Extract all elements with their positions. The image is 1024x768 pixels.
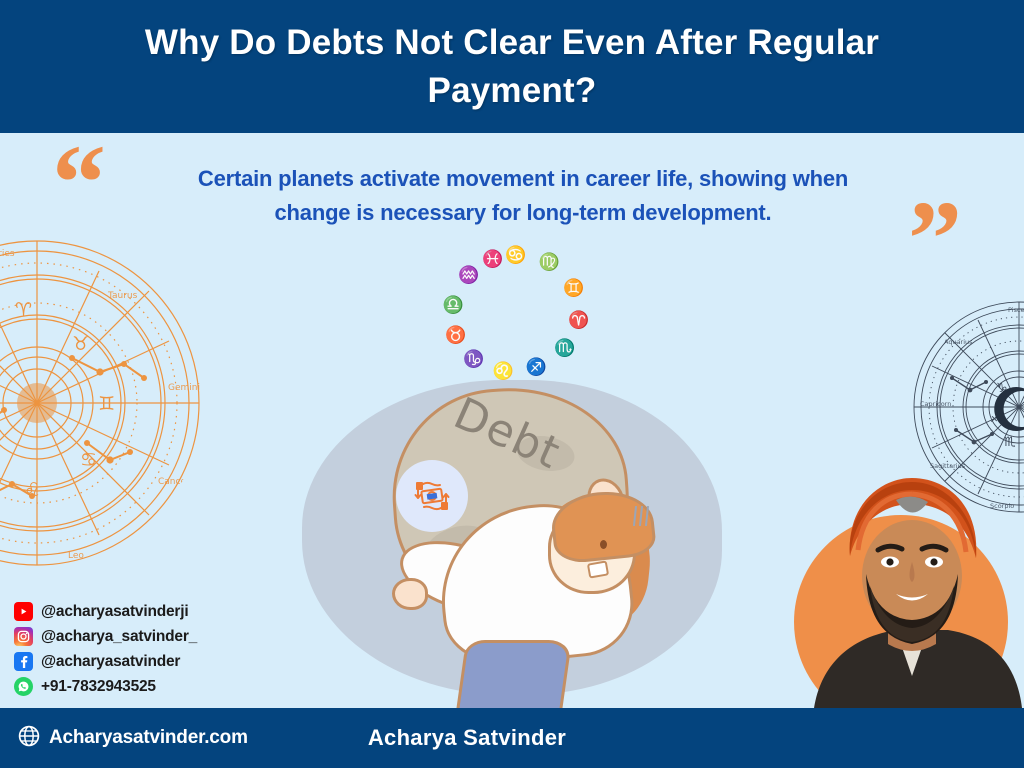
- svg-text:Gemini: Gemini: [168, 383, 200, 393]
- acharya-satvinder-portrait: [800, 470, 1024, 730]
- social-handle: @acharyasatvinderji: [41, 603, 188, 621]
- social-row-youtube[interactable]: @acharyasatvinderji: [14, 600, 274, 623]
- social-row-instagram[interactable]: @acharya_satvinder_: [14, 625, 274, 648]
- zodiac-glyph: ♓: [482, 250, 503, 267]
- header-bar: Why Do Debts Not Clear Even After Regula…: [0, 0, 1024, 133]
- zodiac-glyph: ♈: [568, 311, 589, 328]
- svg-text:♋: ♋: [80, 449, 97, 471]
- social-handle: @acharyasatvinder: [41, 653, 180, 671]
- strain-lines-icon: [634, 506, 650, 528]
- svg-text:♌: ♌: [24, 479, 41, 501]
- svg-text:Leo: Leo: [68, 551, 84, 561]
- zodiac-glyph: ♌: [493, 362, 514, 379]
- zodiac-glyph: ♑: [463, 350, 484, 367]
- social-handle: +91-7832943525: [41, 678, 156, 696]
- youtube-icon[interactable]: [14, 602, 33, 621]
- svg-text:♊: ♊: [98, 393, 115, 415]
- zodiac-glyph: ♒: [458, 267, 479, 284]
- svg-text:Sagittarius: Sagittarius: [930, 462, 966, 470]
- footer-bar: Acharyasatvinder.com Acharya Satvinder: [0, 708, 1024, 768]
- zodiac-glyph-ring: ♋ ♍ ♊ ♈ ♏ ♐ ♌ ♑ ♉ ♎ ♒ ♓: [452, 255, 580, 373]
- instagram-icon[interactable]: [14, 627, 33, 646]
- facebook-icon[interactable]: [14, 652, 33, 671]
- poster-canvas: ♈ ♉ ♊ ♋ ♌ ♍ Aries Taurus Gemini Cancer L…: [0, 0, 1024, 768]
- page-title: Why Do Debts Not Clear Even After Regula…: [90, 19, 934, 114]
- zodiac-glyph: ♐: [526, 359, 547, 376]
- social-handle: @acharya_satvinder_: [41, 628, 197, 646]
- svg-text:Aries: Aries: [0, 249, 15, 259]
- zodiac-glyph: ♉: [445, 327, 466, 344]
- svg-text:Cancer: Cancer: [158, 477, 190, 487]
- money-transfer-icon: [396, 460, 468, 532]
- quote-close-icon: ”: [908, 178, 962, 302]
- social-handles-list: @acharyasatvinderji @acharya_satvinder_ …: [14, 600, 274, 700]
- svg-text:Taurus: Taurus: [107, 291, 138, 301]
- social-row-facebook[interactable]: @acharyasatvinder: [14, 650, 274, 673]
- svg-text:♈: ♈: [15, 299, 32, 321]
- svg-text:♉: ♉: [72, 333, 89, 355]
- svg-text:Capricorn: Capricorn: [920, 400, 951, 408]
- social-row-whatsapp[interactable]: +91-7832943525: [14, 675, 274, 698]
- zodiac-glyph: ♎: [443, 296, 464, 313]
- svg-text:Pisces: Pisces: [1008, 306, 1024, 314]
- zodiac-glyph: ♊: [563, 280, 584, 297]
- zodiac-glyph: ♍: [539, 254, 560, 271]
- person-eye: [600, 540, 607, 549]
- footer-brand-name: Acharya Satvinder: [0, 725, 1024, 751]
- zodiac-glyph: ♋: [505, 247, 526, 264]
- person-hand-lower: [392, 578, 428, 610]
- quote-open-icon: “: [52, 122, 106, 246]
- svg-text:Aquarius: Aquarius: [944, 338, 973, 346]
- svg-text:♏: ♏: [1004, 435, 1016, 450]
- whatsapp-icon[interactable]: [14, 677, 33, 696]
- zodiac-wheel-orange: ♈ ♉ ♊ ♋ ♌ ♍ Aries Taurus Gemini Cancer L…: [0, 238, 202, 568]
- quote-text: Certain planets activate movement in car…: [160, 162, 886, 230]
- zodiac-glyph: ♏: [554, 340, 575, 357]
